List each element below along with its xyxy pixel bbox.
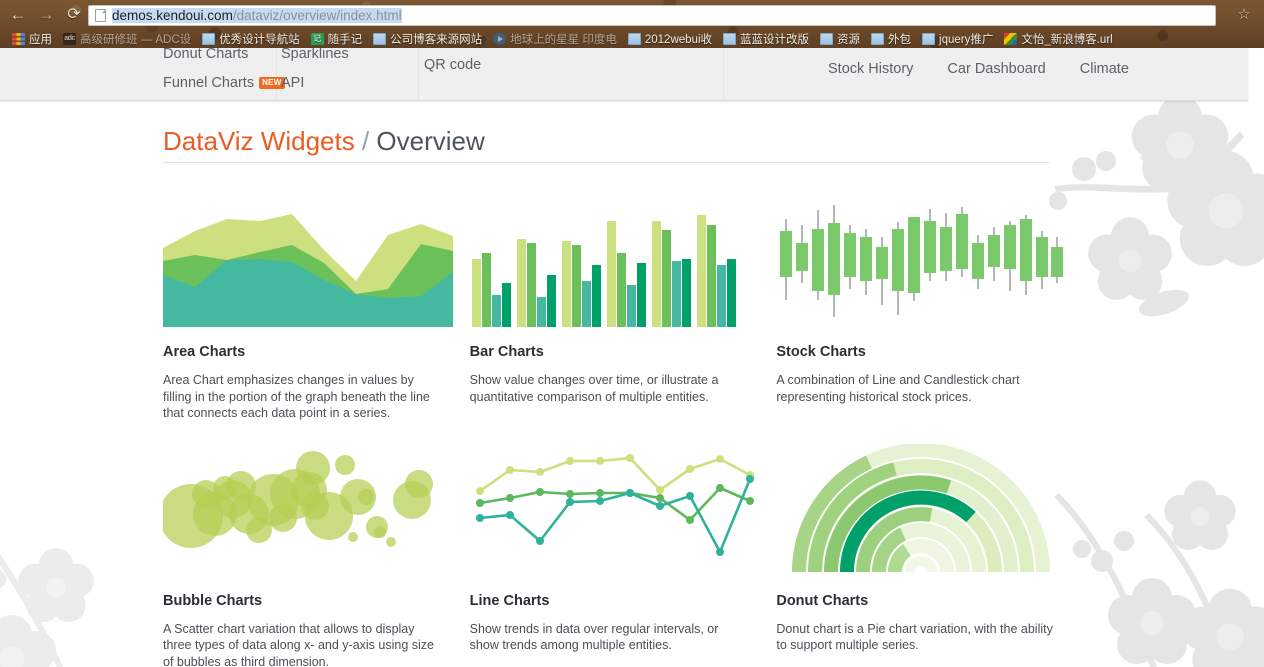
bookmark-sina-blog[interactable]: 文怡_新浪博客.url (1000, 30, 1119, 48)
bookmark-label: 高级研修班 — ADC设 (80, 31, 191, 47)
donut-chart-svg (776, 444, 1066, 576)
browser-chrome: ← → ⟳ demos.kendoui.com/dataviz/overview… (0, 0, 1264, 48)
stock-chart-thumbnail[interactable] (776, 195, 1066, 327)
bookmark-star-icon[interactable]: ☆ (1234, 5, 1254, 25)
bookmark-apps[interactable]: 应用 (8, 30, 59, 48)
card-title: Area Charts (163, 344, 470, 360)
nav-item-car-dashboard[interactable]: Car Dashboard (947, 59, 1045, 80)
card-description: A Scatter chart variation that allows to… (163, 621, 443, 667)
page-document-icon (95, 9, 106, 22)
bar-chart-svg (470, 195, 760, 327)
url-host: demos.kendoui.com (112, 8, 233, 23)
folder-icon (820, 33, 833, 45)
area-chart-thumbnail[interactable] (163, 195, 453, 327)
nav-divider (418, 48, 419, 101)
bookmark-notes[interactable]: 记 随手记 (307, 30, 370, 48)
bookmark-jquery[interactable]: jquery推广 (918, 30, 1000, 48)
bookmark-adc[interactable]: adc 高级研修班 — ADC设 (59, 30, 198, 48)
widget-grid: Area Charts Area Chart emphasizes change… (163, 195, 1083, 667)
card-description: Show value changes over time, or illustr… (470, 372, 750, 405)
card-title: Stock Charts (776, 344, 1083, 360)
folder-icon (723, 33, 736, 45)
bookmark-label: 地球上的星星 印度电 (510, 31, 617, 47)
card-bubble-charts[interactable]: Bubble Charts A Scatter chart variation … (163, 444, 470, 667)
folder-icon (202, 33, 215, 45)
bookmark-label: 优秀设计导航站 (219, 31, 300, 47)
nav-item-qr-code[interactable]: QR code (424, 55, 481, 76)
card-line-charts[interactable]: Line Charts Show trends in data over reg… (470, 444, 777, 667)
bookmark-label: 资源 (837, 31, 860, 47)
url-text: demos.kendoui.com/dataviz/overview/index… (112, 8, 402, 23)
page-title-accent[interactable]: DataViz Widgets (163, 126, 355, 156)
nav-item-climate[interactable]: Climate (1080, 59, 1129, 80)
note-icon: 记 (311, 33, 324, 45)
card-title: Bar Charts (470, 344, 777, 360)
line-chart-thumbnail[interactable] (470, 444, 760, 576)
page-title: DataViz Widgets / Overview (163, 126, 1049, 156)
bookmark-label: 外包 (888, 31, 911, 47)
card-bar-charts[interactable]: Bar Charts Show value changes over time,… (470, 195, 777, 422)
address-bar[interactable]: demos.kendoui.com/dataviz/overview/index… (88, 5, 1216, 26)
site-nav-dropdown: Donut Charts Funnel ChartsNEW Sparklines… (0, 48, 1248, 101)
apps-grid-icon (12, 33, 25, 45)
card-description: Show trends in data over regular interva… (470, 621, 750, 654)
area-chart-svg (163, 195, 453, 327)
folder-icon (628, 33, 641, 45)
nav-column-demos: Stock HistoryCar DashboardClimate (828, 59, 1248, 80)
bookmark-label: 随手记 (328, 31, 363, 47)
colorful-icon (1004, 33, 1017, 45)
folder-icon (871, 33, 884, 45)
bookmark-resources[interactable]: 资源 (816, 30, 867, 48)
folder-icon (373, 33, 386, 45)
card-title: Donut Charts (776, 593, 1083, 609)
line-chart-svg (470, 444, 760, 576)
card-donut-charts[interactable]: Donut Charts Donut chart is a Pie chart … (776, 444, 1083, 667)
title-divider (163, 162, 1049, 163)
browser-toolbar: ← → ⟳ demos.kendoui.com/dataviz/overview… (0, 0, 1264, 30)
play-circle-icon (493, 33, 506, 45)
nav-item-api[interactable]: API (281, 73, 349, 94)
page-title-separator: / (362, 126, 369, 156)
url-path: /dataviz/overview/index.html (233, 8, 402, 23)
page-content: DataViz Widgets / Overview Area Charts A… (0, 101, 1264, 667)
card-area-charts[interactable]: Area Charts Area Chart emphasizes change… (163, 195, 470, 422)
bar-chart-thumbnail[interactable] (470, 195, 760, 327)
card-stock-charts[interactable]: Stock Charts A combination of Line and C… (776, 195, 1083, 422)
stock-chart-svg (776, 195, 1066, 327)
page-title-section: Overview (376, 126, 484, 156)
bookmark-lanlan[interactable]: 蓝蓝设计改版 (719, 30, 816, 48)
nav-item-funnel-charts[interactable]: Funnel ChartsNEW (163, 73, 285, 94)
bookmark-company-blog[interactable]: 公司博客来源网站 (369, 30, 489, 48)
bubble-chart-svg (163, 444, 453, 576)
card-title: Bubble Charts (163, 593, 470, 609)
forward-arrow-icon[interactable]: → (34, 4, 58, 26)
bookmark-label: 公司博客来源网站 (390, 31, 482, 47)
donut-chart-thumbnail[interactable] (776, 444, 1066, 576)
page-header: DataViz Widgets / Overview (163, 126, 1049, 156)
card-title: Line Charts (470, 593, 777, 609)
nav-column-qr: QR code (424, 55, 481, 76)
bubble-chart-thumbnail[interactable] (163, 444, 453, 576)
bookmark-design-nav[interactable]: 优秀设计导航站 (198, 30, 307, 48)
bookmark-outsourcing[interactable]: 外包 (867, 30, 918, 48)
card-description: Donut chart is a Pie chart variation, wi… (776, 621, 1056, 654)
back-arrow-icon[interactable]: ← (6, 4, 30, 26)
card-description: A combination of Line and Candlestick ch… (776, 372, 1056, 405)
bookmark-2012webui[interactable]: 2012webui收 (624, 30, 719, 48)
nav-item-stock-history[interactable]: Stock History (828, 59, 913, 80)
bookmark-video[interactable]: 地球上的星星 印度电 (489, 30, 624, 48)
widget-row-2: Bubble Charts A Scatter chart variation … (163, 444, 1083, 667)
nav-divider (723, 48, 724, 101)
bookmark-label: 文怡_新浪博客.url (1021, 31, 1112, 47)
bookmark-label: 应用 (29, 31, 52, 47)
nav-item-label: Funnel Charts (163, 75, 254, 91)
adc-icon: adc (63, 33, 76, 45)
bookmark-label: 2012webui收 (645, 31, 712, 47)
nav-column-charts: Donut Charts Funnel ChartsNEW (163, 44, 285, 94)
reload-icon[interactable]: ⟳ (62, 4, 86, 26)
nav-column-misc: Sparklines API (281, 44, 349, 94)
blossom-decoration-bottom-left (0, 517, 140, 667)
bookmark-label: jquery推广 (939, 31, 993, 47)
folder-icon (922, 33, 935, 45)
widget-row-1: Area Charts Area Chart emphasizes change… (163, 195, 1083, 422)
card-description: Area Chart emphasizes changes in values … (163, 372, 443, 422)
bookmarks-bar: 应用 adc 高级研修班 — ADC设 优秀设计导航站 记 随手记 公司博客来源… (0, 30, 1264, 48)
bookmark-label: 蓝蓝设计改版 (740, 31, 809, 47)
